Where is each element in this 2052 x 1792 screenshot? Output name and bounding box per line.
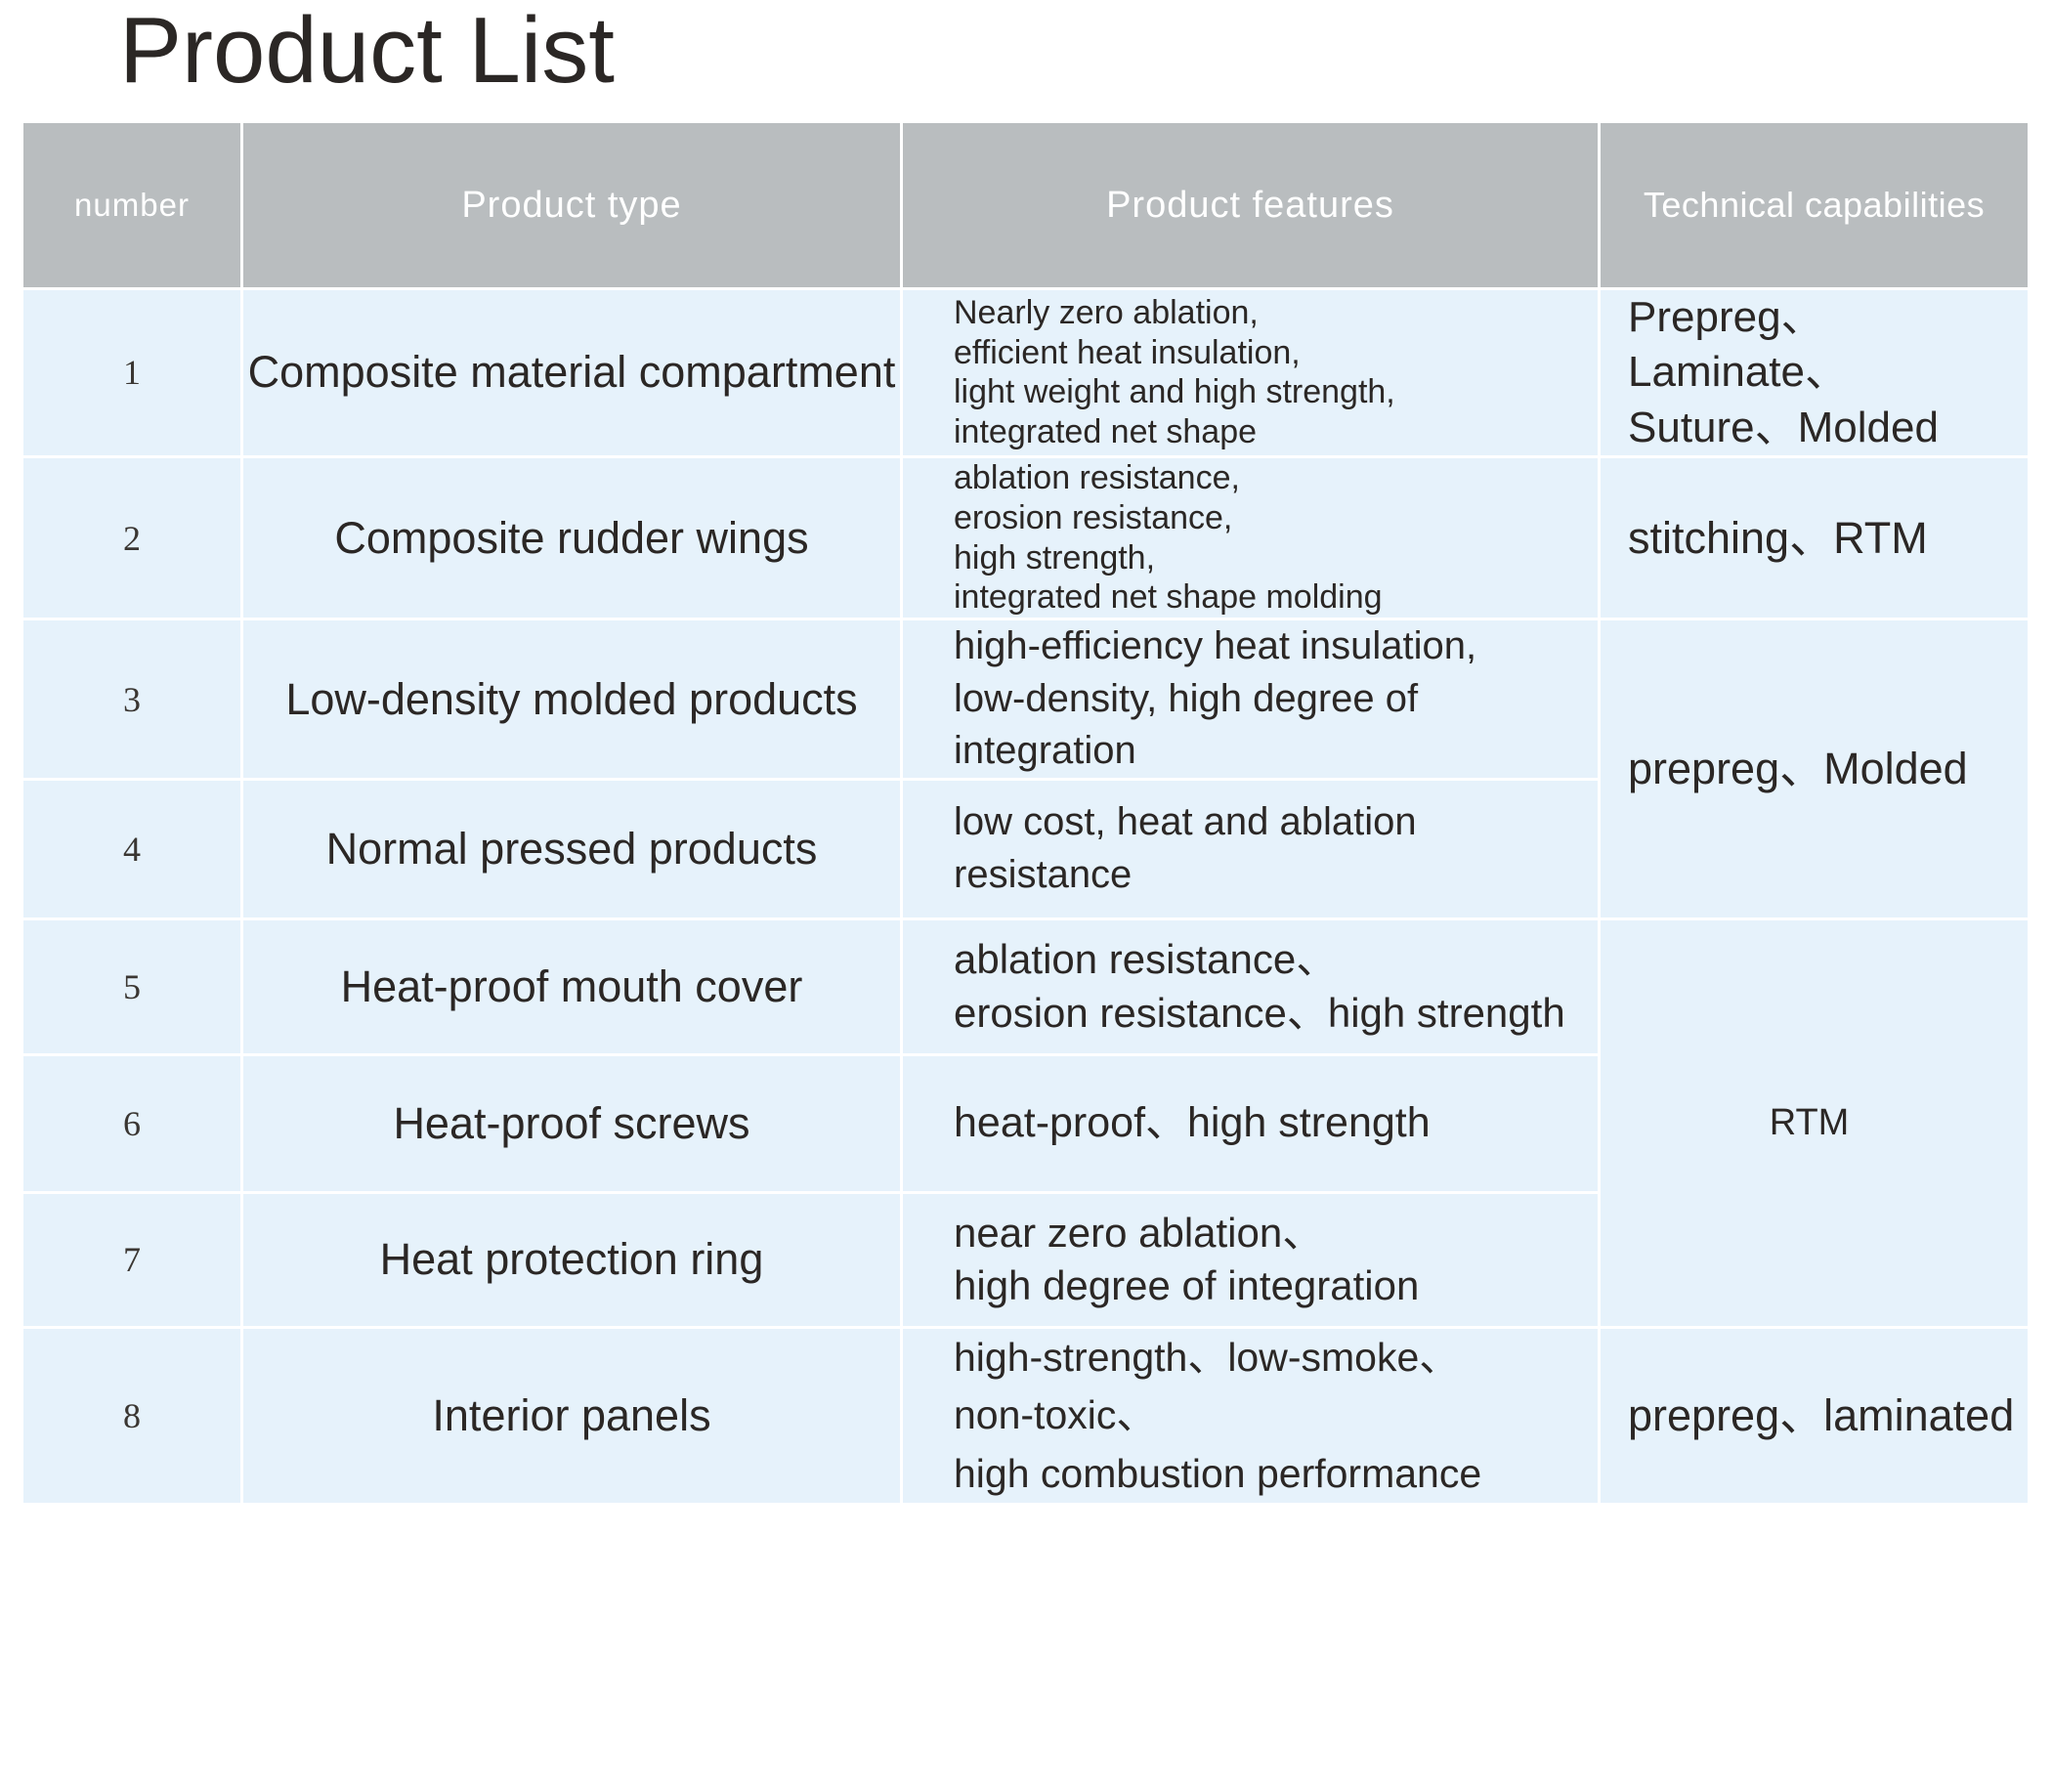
cell-product-features: near zero ablation、 high degree of integ… — [903, 1194, 1598, 1326]
feature-line: efficient heat insulation, — [954, 333, 1584, 373]
cell-number: 2 — [23, 458, 240, 618]
table-body: 1 Composite material compartment Nearly … — [23, 290, 2028, 1503]
table-row: 3 Low-density molded products high-effic… — [23, 620, 2028, 778]
tech-line: prepreg、laminated — [1628, 1387, 2018, 1444]
feature-line: ablation resistance, — [954, 458, 1584, 498]
feature-line: low-density, high degree of integration — [954, 673, 1584, 778]
feature-line: high strength, — [954, 538, 1584, 578]
cell-number: 1 — [23, 290, 240, 455]
feature-line: non-toxic、 — [954, 1387, 1584, 1444]
feature-line: high combustion performance — [954, 1445, 1584, 1503]
table-row: 1 Composite material compartment Nearly … — [23, 290, 2028, 455]
column-header-product-features: Product features — [903, 123, 1598, 287]
feature-line: integrated net shape — [954, 412, 1584, 452]
product-table: number Product type Product features Tec… — [21, 120, 2031, 1506]
cell-number: 6 — [23, 1056, 240, 1191]
cell-technical-capabilities: Prepreg、Laminate、 Suture、Molded — [1601, 290, 2028, 455]
column-header-product-type: Product type — [243, 123, 900, 287]
feature-line: high-efficiency heat insulation, — [954, 620, 1584, 673]
cell-product-type: Normal pressed products — [243, 781, 900, 917]
table-row: 5 Heat-proof mouth cover ablation resist… — [23, 920, 2028, 1053]
feature-line: erosion resistance, — [954, 498, 1584, 538]
cell-product-features: ablation resistance, erosion resistance,… — [903, 458, 1598, 618]
cell-product-features: Nearly zero ablation, efficient heat ins… — [903, 290, 1598, 455]
cell-number: 7 — [23, 1194, 240, 1326]
feature-line: integrated net shape molding — [954, 577, 1584, 618]
cell-product-type: Heat protection ring — [243, 1194, 900, 1326]
column-header-number: number — [23, 123, 240, 287]
cell-product-type: Heat-proof screws — [243, 1056, 900, 1191]
tech-line: Prepreg、Laminate、 — [1628, 290, 2018, 401]
feature-line: low cost, heat and ablation resistance — [954, 796, 1584, 901]
cell-number: 3 — [23, 620, 240, 778]
feature-line: Nearly zero ablation, — [954, 293, 1584, 333]
tech-line: prepreg、Molded — [1628, 741, 2018, 797]
table-row: 8 Interior panels high-strength、low-smok… — [23, 1329, 2028, 1503]
table-header-row: number Product type Product features Tec… — [23, 123, 2028, 287]
cell-product-type: Interior panels — [243, 1329, 900, 1503]
feature-line: near zero ablation、 — [954, 1207, 1584, 1260]
cell-product-type: Low-density molded products — [243, 620, 900, 778]
column-header-technical-capabilities: Technical capabilities — [1601, 123, 2028, 287]
feature-line: ablation resistance、 — [954, 933, 1584, 987]
feature-line: high degree of integration — [954, 1259, 1584, 1313]
cell-product-features: low cost, heat and ablation resistance — [903, 781, 1598, 917]
tech-line: stitching、RTM — [1628, 510, 2018, 567]
tech-line: RTM — [1601, 1099, 2018, 1147]
feature-line: erosion resistance、high strength — [954, 987, 1584, 1041]
cell-product-type: Composite rudder wings — [243, 458, 900, 618]
feature-line: heat-proof、high strength — [954, 1096, 1584, 1151]
feature-line: light weight and high strength, — [954, 372, 1584, 412]
cell-product-features: high-strength、low-smoke、 non-toxic、 high… — [903, 1329, 1598, 1503]
cell-technical-capabilities: stitching、RTM — [1601, 458, 2028, 618]
table-row: 2 Composite rudder wings ablation resist… — [23, 458, 2028, 618]
cell-number: 4 — [23, 781, 240, 917]
cell-product-type: Heat-proof mouth cover — [243, 920, 900, 1053]
cell-product-features: high-efficiency heat insulation, low-den… — [903, 620, 1598, 778]
cell-number: 5 — [23, 920, 240, 1053]
tech-line: Suture、Molded — [1628, 401, 2018, 455]
cell-technical-capabilities: RTM — [1601, 920, 2028, 1326]
cell-technical-capabilities: prepreg、laminated — [1601, 1329, 2028, 1503]
feature-line: high-strength、low-smoke、 — [954, 1329, 1584, 1387]
cell-product-features: ablation resistance、 erosion resistance、… — [903, 920, 1598, 1053]
cell-number: 8 — [23, 1329, 240, 1503]
cell-technical-capabilities: prepreg、Molded — [1601, 620, 2028, 917]
page-title: Product List — [119, 0, 615, 109]
cell-product-features: heat-proof、high strength — [903, 1056, 1598, 1191]
product-table-container: number Product type Product features Tec… — [23, 123, 2019, 1503]
cell-product-type: Composite material compartment — [243, 290, 900, 455]
table-header: number Product type Product features Tec… — [23, 123, 2028, 287]
product-list-page: Product List number Product type Product… — [0, 0, 2052, 1792]
